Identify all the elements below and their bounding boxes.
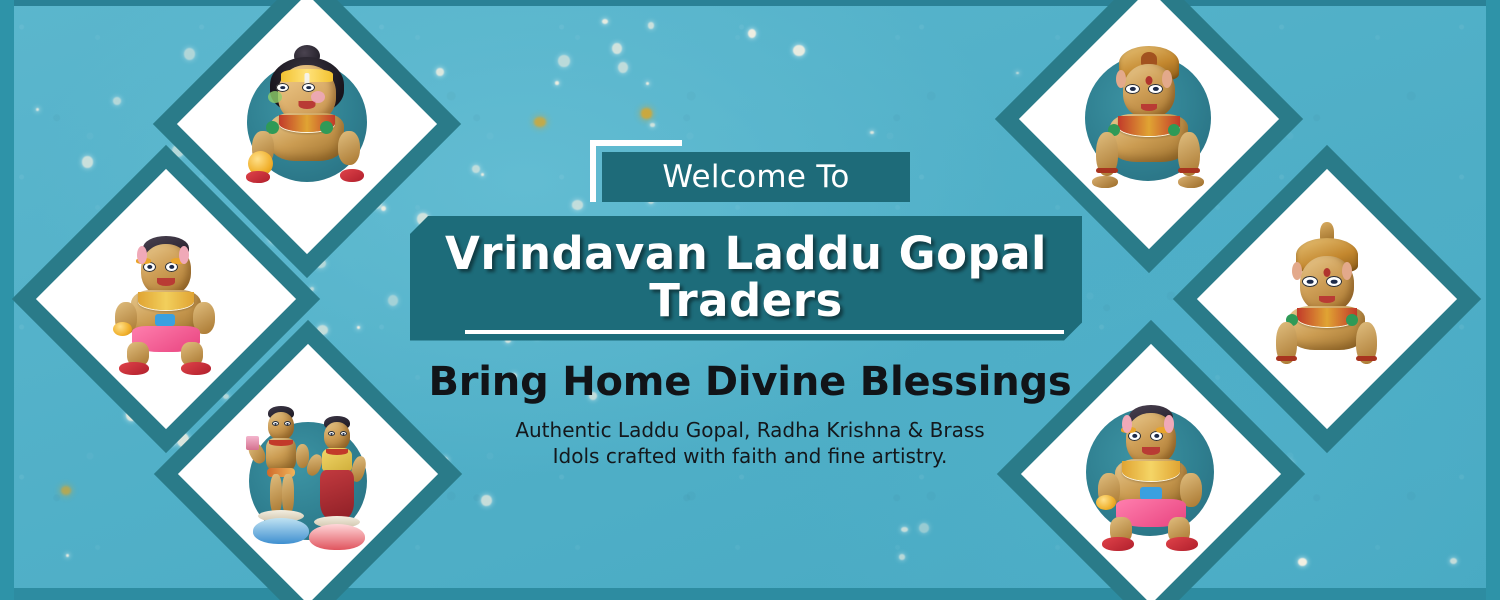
radha-krishna-pair-idol	[216, 382, 400, 566]
brass-laddu-gopal-pink-dhoti-idol	[74, 207, 258, 391]
brand-title-box: Vrindavan Laddu Gopal Traders	[410, 216, 1082, 341]
frame-top-border	[0, 0, 1500, 6]
banner-text-block: Welcome To Vrindavan Laddu Gopal Traders…	[400, 140, 1100, 470]
page-title: Vrindavan Laddu Gopal Traders	[428, 230, 1064, 325]
welcome-badge: Welcome To	[590, 140, 910, 202]
frame-bottom-border	[0, 588, 1500, 600]
description-text: Authentic Laddu Gopal, Radha Krishna & B…	[515, 417, 985, 470]
welcome-label: Welcome To	[662, 159, 849, 195]
brass-laddu-gopal-topknot-idol	[1235, 207, 1419, 391]
brand-title-panel: Vrindavan Laddu Gopal Traders	[410, 216, 1082, 341]
promo-banner: Welcome To Vrindavan Laddu Gopal Traders…	[0, 0, 1500, 600]
welcome-badge-box: Welcome To	[602, 152, 910, 202]
frame-right-border	[1486, 0, 1500, 600]
laddu-gopal-painted-idol	[215, 32, 399, 216]
tagline: Bring Home Divine Blessings	[400, 359, 1100, 405]
title-underline-decoration	[465, 330, 1064, 334]
